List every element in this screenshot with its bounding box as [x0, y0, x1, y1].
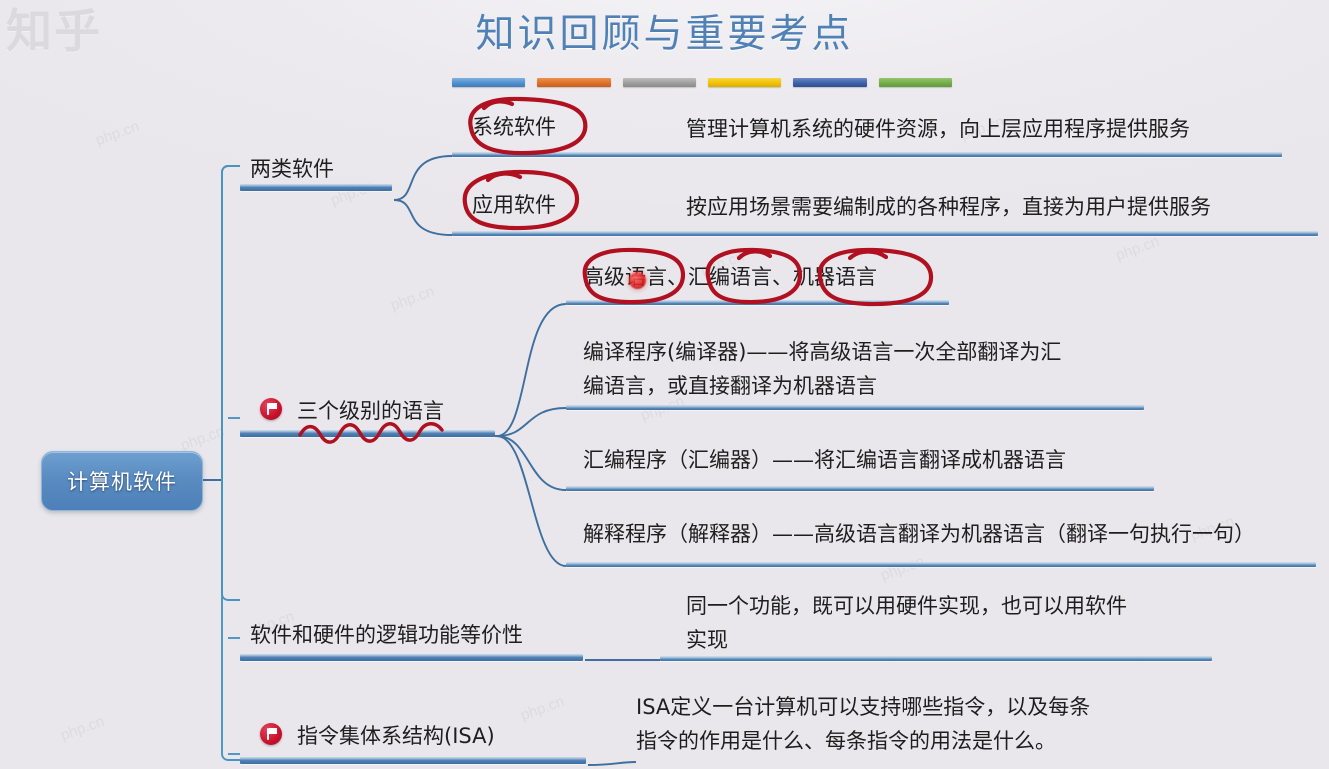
mouse-cursor-dot [629, 272, 646, 289]
leaf-desc-system-software: 管理计算机系统的硬件资源，向上层应用程序提供服务 [686, 112, 1190, 146]
flag-icon [260, 723, 282, 745]
root-node[interactable]: 计算机软件 [41, 451, 203, 511]
underline-three-levels [240, 430, 495, 437]
accent-bar-green [879, 78, 952, 87]
mindmap-canvas: 知乎 php.cn php.cn php.cn php.cn php.cn ph… [0, 0, 1329, 769]
underline-assembler [566, 486, 1154, 491]
leaf-desc-isa: ISA定义一台计算机可以支持哪些指令，以及每条 指令的作用是什么、每条指令的用法… [636, 690, 1090, 758]
underline-two-software [240, 184, 392, 191]
leaf-label-application-software[interactable]: 应用软件 [472, 190, 556, 220]
branch-label-isa[interactable]: 指令集体系结构(ISA) [297, 721, 495, 751]
tile-watermark: php.cn [93, 118, 141, 149]
accent-bar-orange [537, 78, 610, 87]
tile-watermark: php.cn [178, 423, 226, 454]
annotation-tail-machine-language [850, 252, 886, 259]
underline-interpreter [566, 562, 1316, 567]
branch-label-two-software[interactable]: 两类软件 [250, 154, 334, 184]
underline-application-software [452, 231, 1318, 236]
underline-isa [240, 757, 586, 764]
tile-watermark: php.cn [878, 553, 926, 584]
branch-label-three-levels[interactable]: 三个级别的语言 [297, 396, 444, 426]
leaf-desc-equivalence: 同一个功能，既可以用硬件实现，也可以用软件 实现 [686, 589, 1127, 657]
flag-icon [260, 398, 282, 420]
root-node-label: 计算机软件 [67, 466, 177, 496]
accent-bar-navy [793, 78, 866, 87]
page-title: 知识回顾与重要考点 [0, 8, 1329, 62]
underline-equivalence [240, 654, 583, 661]
tile-watermark: php.cn [328, 178, 376, 209]
accent-bar-gray [623, 78, 696, 87]
leaf-label-language-levels[interactable]: 高级语言、汇编语言、机器语言 [583, 262, 877, 292]
underline-compiler [566, 405, 1144, 410]
tile-watermark: php.cn [518, 693, 566, 724]
tile-watermark: php.cn [388, 283, 436, 314]
accent-bar-group [452, 78, 952, 87]
tile-watermark: php.cn [58, 713, 106, 744]
annotation-tail-system-software [484, 101, 512, 108]
underline-equivalence-desc [660, 656, 1212, 661]
leaf-desc-compiler: 编译程序(编译器)——将高级语言一次全部翻译为汇 编语言，或直接翻译为机器语言 [583, 335, 1061, 403]
underline-system-software [452, 152, 1282, 157]
leaf-desc-application-software: 按应用场景需要编制成的各种程序，直接为用户提供服务 [686, 190, 1211, 224]
annotation-tail-application-software [488, 174, 520, 180]
accent-bar-blue [452, 78, 525, 87]
tile-watermark: php.cn [1113, 233, 1161, 264]
leaf-desc-interpreter: 解释程序（解释器）——高级语言翻译为机器语言（翻译一句执行一句） [583, 517, 1255, 551]
leaf-label-system-software[interactable]: 系统软件 [472, 112, 556, 142]
underline-language-levels [566, 300, 949, 305]
annotation-tail-assembly-language [739, 251, 770, 258]
accent-bar-yellow [708, 78, 781, 87]
leaf-desc-assembler: 汇编程序（汇编器）——将汇编语言翻译成机器语言 [583, 443, 1066, 477]
branch-label-equivalence[interactable]: 软件和硬件的逻辑功能等价性 [250, 620, 523, 650]
